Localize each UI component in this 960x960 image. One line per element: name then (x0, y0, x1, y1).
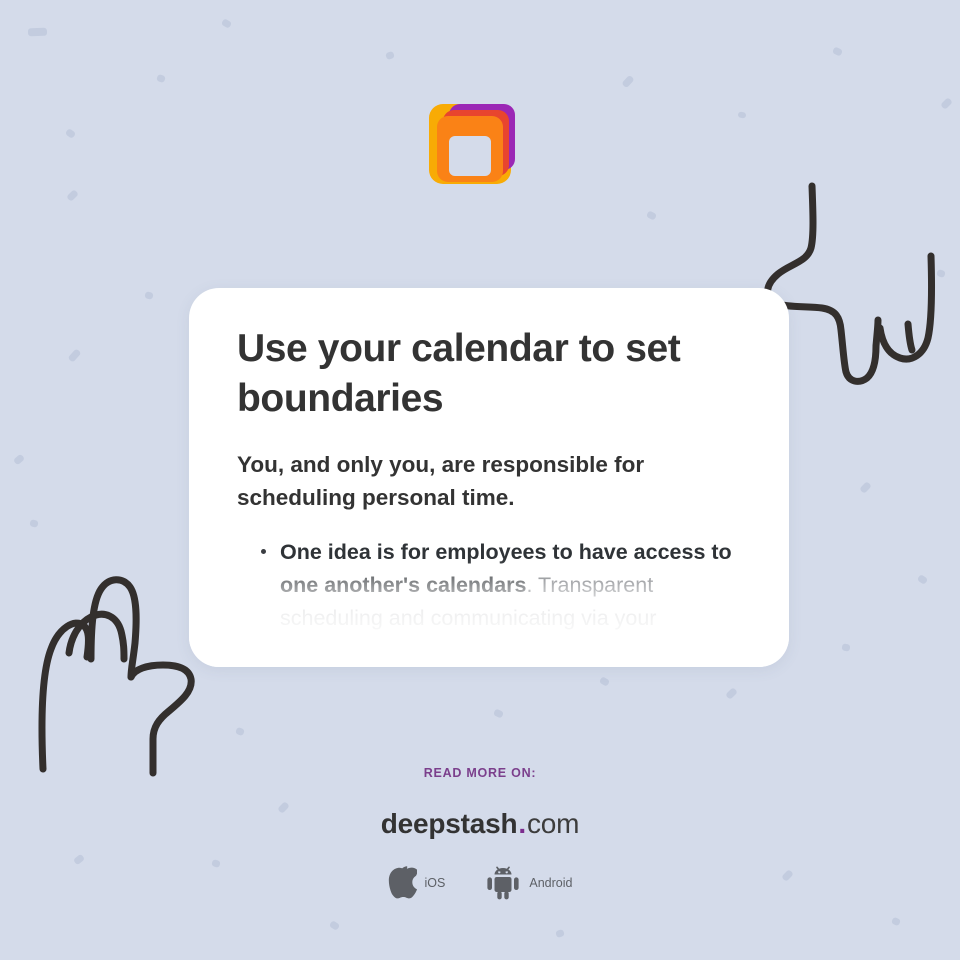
speckle (493, 708, 504, 718)
speckle (891, 917, 901, 927)
speckle (235, 727, 245, 736)
speckle (621, 75, 634, 89)
speckle (329, 920, 340, 931)
deepstash-wordmark[interactable]: deepstash.com (0, 808, 960, 840)
speckle (725, 687, 738, 700)
speckle (385, 51, 395, 60)
ios-store-badge[interactable]: iOS (388, 866, 446, 900)
speckle (28, 28, 47, 37)
speckle (940, 97, 953, 110)
speckle (832, 46, 843, 56)
speckle (156, 74, 166, 83)
card-bullet-list: One idea is for employees to have access… (237, 536, 741, 667)
speckle (144, 291, 153, 300)
speckle (917, 574, 928, 585)
store-badges: iOS (0, 866, 960, 900)
wordmark-tld: com (527, 808, 579, 839)
ios-label: iOS (425, 876, 446, 890)
bullet-ghost-text: calendars means less need for back-and-f… (280, 639, 717, 663)
wordmark-dot: . (517, 808, 527, 839)
read-more-label: READ MORE ON: (0, 766, 960, 780)
speckle (936, 269, 946, 278)
speckle (68, 348, 82, 362)
card-title: Use your calendar to set boundaries (237, 324, 741, 424)
speckle (13, 454, 25, 466)
speckle (599, 676, 610, 687)
bullet-strong-text: One idea is for employees to have access… (280, 540, 732, 597)
card-subtitle: You, and only you, are responsible for s… (237, 448, 741, 515)
android-label: Android (529, 876, 572, 890)
speckle (646, 210, 657, 220)
wordmark-name: deepstash (381, 808, 518, 839)
speckle (555, 929, 565, 938)
speckle (29, 519, 39, 528)
android-store-badge[interactable]: Android (485, 866, 572, 900)
card-content: Use your calendar to set boundaries You,… (189, 288, 789, 667)
logo-cutout (449, 136, 491, 176)
list-item: One idea is for employees to have access… (261, 536, 741, 667)
speckle (738, 111, 747, 118)
speckle (859, 481, 872, 494)
apple-icon (388, 866, 417, 900)
speckle (841, 643, 850, 652)
footer: READ MORE ON: deepstash.com iOS (0, 766, 960, 900)
idea-card: Use your calendar to set boundaries You,… (189, 288, 789, 667)
speckle (65, 128, 76, 139)
speckle (221, 18, 232, 29)
speckle (66, 189, 79, 202)
android-icon (485, 866, 521, 900)
deepstash-logo (429, 104, 515, 196)
bullet-dot-icon (261, 549, 266, 554)
